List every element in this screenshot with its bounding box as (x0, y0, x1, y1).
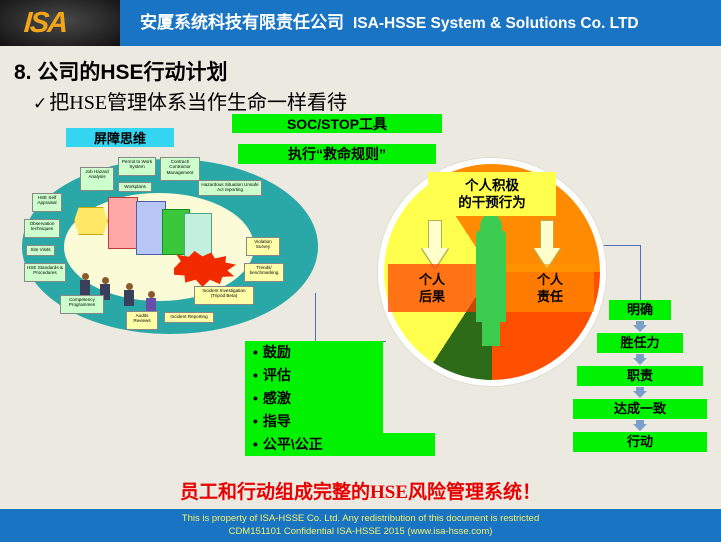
wheel-label-consequence: 个人 后果 (388, 264, 476, 312)
barrier-sheet-yellow (74, 207, 108, 235)
footer-line-2: CDM151101 Confidential ISA-HSSE 2015 (ww… (0, 525, 721, 538)
down-arrow-icon-left (422, 220, 448, 270)
list-item: 鼓励 (245, 341, 383, 364)
page-title: 8. 公司的HSE行动计划 (14, 56, 228, 86)
company-title: 安厦系统科技有限责任公司ISA-HSSE System & Solutions … (140, 9, 715, 37)
barrier-note: Permit to Work System (118, 157, 156, 176)
down-arrow-icon (633, 387, 647, 398)
check-icon: ✓ (33, 94, 47, 114)
person-body-icon (476, 230, 506, 322)
isa-logo: ISA (23, 8, 105, 38)
flow-step-5: 行动 (573, 432, 707, 452)
down-arrow-icon (633, 420, 647, 431)
barrier-note: Observation techniques (24, 219, 60, 238)
flow-step-3: 职责 (577, 366, 703, 386)
label-soc-stop-tool: SOC/STOP工具 (232, 114, 442, 133)
wheel-label-responsibility-line2: 责任 (537, 288, 563, 305)
page-subtitle: ✓把HSE管理体系当作生命一样看待 (33, 86, 347, 115)
down-arrow-icon (633, 354, 647, 365)
company-title-en: ISA-HSSE System & Solutions Co. LTD (353, 15, 639, 32)
barrier-note: Contract/ Contractor Management (160, 157, 200, 181)
list-item: 评估 (245, 364, 383, 387)
wheel-label-consequence-line2: 后果 (419, 288, 445, 305)
wheel-label-intervention-line1: 个人积极 (465, 177, 519, 194)
list-item: 公平\公正 (245, 433, 435, 456)
barrier-note: Incident Investigation (Tripod Beta) (194, 286, 254, 305)
barrier-sheet-red (108, 197, 138, 249)
list-item: 指导 (245, 410, 383, 433)
barrier-note: Trends/ benchmarking (244, 263, 284, 282)
company-title-cn: 安厦系统科技有限责任公司 (140, 13, 344, 32)
barrier-note: Job Hazard Analysis (80, 167, 114, 191)
flow-step-2: 胜任力 (597, 333, 683, 353)
slide-footer: This is property of ISA-HSSE Co. Ltd. An… (0, 509, 721, 542)
barrier-note: Hazardous Situation Unsafe Act reporting (198, 180, 262, 196)
barrier-note: HSE Self Appraisal (32, 193, 62, 212)
barrier-note: Competency Programmes (60, 295, 104, 314)
footer-line-1: This is property of ISA-HSSE Co. Ltd. An… (0, 512, 721, 525)
barrier-note: Audits Reviews (126, 311, 158, 330)
competency-flow: 明确 胜任力 职责 达成一致 行动 (564, 300, 716, 452)
down-arrow-icon-right (534, 220, 560, 270)
barrier-note: Violation Survey (246, 237, 280, 256)
action-bullet-list: 鼓励 评估 感激 指导 公平\公正 (245, 341, 435, 456)
down-arrow-icon (633, 321, 647, 332)
wheel-label-intervention-line2: 的干预行为 (458, 194, 526, 211)
slide-canvas: ISA 安厦系统科技有限责任公司ISA-HSSE System & Soluti… (0, 0, 721, 542)
list-item: 感激 (245, 387, 383, 410)
wheel-label-responsibility-line1: 个人 (537, 271, 563, 288)
page-subtitle-text: 把HSE管理体系当作生命一样看待 (49, 92, 347, 114)
barrier-note: Site Visits (26, 245, 55, 256)
label-barrier-thinking: 屏障思维 (66, 128, 174, 147)
barrier-note: Workplans (118, 182, 152, 192)
flow-step-4: 达成一致 (573, 399, 707, 419)
connector-bullets-to-wheel (315, 293, 386, 342)
summary-statement: 员工和行动组成完整的HSE风险管理系统！ (0, 478, 721, 508)
person-legs-icon (482, 316, 500, 346)
connector-wheel-to-flow (600, 245, 641, 304)
slide-header: ISA 安厦系统科技有限责任公司ISA-HSSE System & Soluti… (0, 0, 721, 46)
wheel-label-consequence-line1: 个人 (419, 271, 445, 288)
wheel-label-intervention: 个人积极 的干预行为 (428, 172, 556, 216)
barrier-note: Incident Reporting (164, 312, 214, 323)
flow-step-1: 明确 (609, 300, 671, 320)
barrier-thinking-diagram: Job Hazard Analysis Permit to Work Syste… (22, 155, 318, 345)
barrier-note: HSE Standards & Procedures (24, 263, 66, 282)
